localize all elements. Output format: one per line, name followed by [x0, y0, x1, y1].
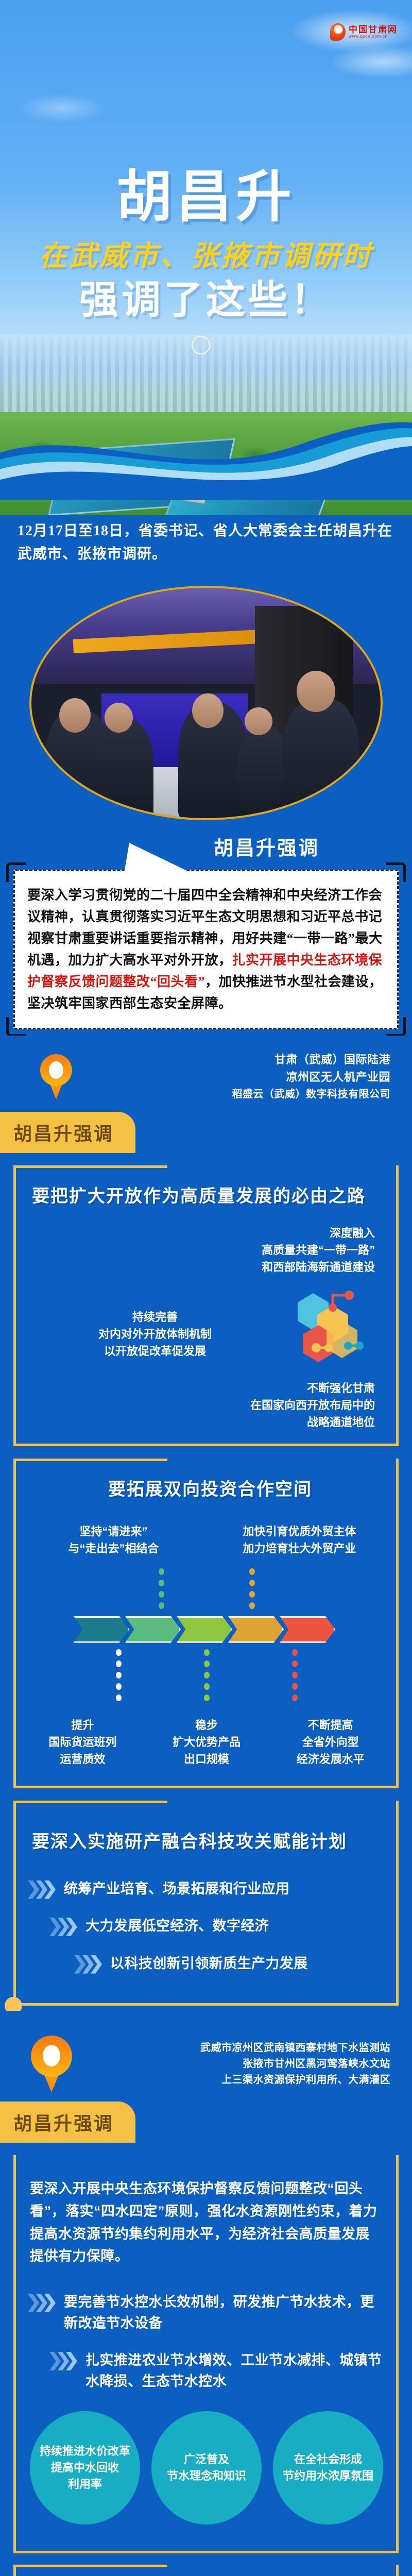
frame-edge-right: [396, 2155, 399, 2553]
water-circle-2-line2: 节水理念和知识: [167, 2468, 246, 2484]
water-circle-1-line2: 提高中水回收: [40, 2460, 130, 2476]
chevron-1: [74, 1616, 129, 1643]
water-bullet-1: 要完善节水控水长效机制，研发推广节水技术，更新改造节水设备: [25, 2283, 388, 2342]
chevron-process-strip: [25, 1616, 388, 1643]
invest-b3-line3: 经济发展水平: [272, 1751, 388, 1768]
section2-tab-row: 胡昌升强调: [0, 1108, 412, 1157]
corner-bracket-tl: [6, 862, 26, 882]
block-investment: 要拓展双向投资合作空间 坚持“请进来” 与“走出去”相结合 加快引育优质外贸主体…: [13, 1459, 399, 1788]
wave-divider: [0, 397, 412, 515]
network-hex-icon: [281, 1283, 384, 1386]
intro-section: 12月17日至18日，省委书记、省人大常委会主任胡昌升在武威市、张掖市调研。: [0, 515, 412, 580]
open-l-line2: 对内对外开放体制机制: [29, 1326, 281, 1343]
wave-svg: [0, 397, 412, 500]
site-logo: 中国甘肃网 www.gscn.com.cn: [330, 23, 398, 41]
section2-tab: 胡昌升强调: [0, 1112, 135, 1153]
frame-edge-left: [13, 1165, 16, 1446]
invest-b3-line2: 全省外向型: [272, 1734, 388, 1751]
double-chevron-icon: [28, 1880, 57, 1899]
water-circles: 持续推进水价改革 提高中水回收 利用率 广泛普及 节水理念和知识 在全社会形成 …: [25, 2400, 388, 2533]
open-item-left: 持续完善 对内对外开放体制机制 以开放促改革促发展: [29, 1309, 281, 1360]
tech-bullet-2-text: 大力发展低空经济、数字经济: [85, 1916, 269, 1937]
map-pin-icon: [31, 2036, 72, 2092]
tech-bullet-1-text: 统筹产业培育、场景拓展和行业应用: [64, 1878, 289, 1900]
photo-person-head: [192, 693, 224, 728]
corner-bracket-tr: [386, 862, 406, 882]
block-water-2: 要有序推进水资源监测感知夯基提能，完善取用水监测计量体系，强化取用水全环节监管，…: [13, 2565, 399, 2576]
water-circle-3-line2: 节约用水浓厚氛围: [283, 2468, 373, 2484]
open-l-line1: 持续完善: [29, 1309, 281, 1326]
water-circle-1-line1: 持续推进水价改革: [40, 2443, 130, 2460]
location-1-labels: 甘肃（武威）国际陆港 凉州区无人机产业园 稻盛云（武威）数字科技有限公司: [83, 1051, 399, 1102]
invest-bottom-3: 不断提高 全省外向型 经济发展水平: [272, 1717, 388, 1768]
water-bullet-2: 扎实推进农业节水增效、工业节水减排、城镇节水降损、生态节水控水: [25, 2342, 388, 2400]
water-circle-3: 在全社会形成 节约用水浓厚氛围: [273, 2411, 383, 2524]
section1: 胡昌升强调 要深入学习贯彻党的二十届四中全会精神和中央经济工作会议精神，认真贯彻…: [0, 827, 412, 1030]
photo-person-head: [297, 671, 335, 712]
frame-edge-bottom: [13, 2003, 399, 2006]
open-rb-line2: 在国家向西开放布局中的: [29, 1397, 375, 1414]
invest-tr-line1: 加快引育优质外贸主体: [211, 1523, 388, 1540]
location-1: 甘肃（武威）国际陆港 凉州区无人机产业园 稻盛云（武威）数字科技有限公司: [0, 1036, 412, 1107]
frame-edge-bottom: [13, 2551, 399, 2553]
frame-edge-left: [13, 2155, 16, 2553]
frame-edge-right: [396, 1459, 399, 1788]
invest-b2-line2: 扩大优势产品: [149, 1734, 265, 1751]
location-2-labels: 武威市凉州区武南镇西寨村地下水监测站 张掖市甘州区黑河莺落峡水文站 上三渠水资源…: [83, 2040, 399, 2088]
block-water: 要深入开展中央生态环境保护督察反馈问题整改“回头看”，落实“四水四定”原则，强化…: [13, 2155, 399, 2553]
ferris-wheel-icon: [192, 336, 210, 354]
photo-person-head: [105, 703, 132, 733]
site-logo-url: www.gscn.com.cn: [349, 34, 398, 39]
invest-b1-line1: 提升: [25, 1717, 141, 1734]
chevron-2: [125, 1616, 181, 1643]
water-circle-2: 广泛普及 节水理念和知识: [151, 2411, 262, 2524]
location-line: 凉州区无人机产业园: [83, 1069, 390, 1086]
quote-card: 要深入学习贯彻党的二十届四中全会精神和中央经济工作会议精神，认真贯彻落实习近平生…: [13, 870, 399, 1030]
open-rt-line3: 和西部陆海新通道建设: [29, 1259, 375, 1276]
water-circle-3-line1: 在全社会形成: [283, 2451, 373, 2468]
block-tech-title: 要深入实施研产融合科技攻关赋能计划: [25, 1814, 388, 1855]
water-bullet-1-text: 要完善节水控水长效机制，研发推广节水技术，更新改造节水设备: [64, 2292, 385, 2333]
tech-bullet-1: 统筹产业培育、场景拓展和行业应用: [25, 1870, 388, 1908]
callout-pointer-icon: [124, 843, 191, 873]
tech-bullet-3: 以科技创新引领新质生产力发展: [25, 1945, 388, 1982]
chevron-5: [280, 1616, 335, 1643]
section3-tab-row: 胡昌升强调: [0, 2097, 412, 2147]
section3-tab: 胡昌升强调: [0, 2102, 135, 2143]
block-opening-up: 要把扩大开放作为高质量发展的必由之路 深度融入 高质量共建“一带一路” 和西部陆…: [13, 1165, 399, 1446]
double-chevron-icon: [28, 2294, 57, 2312]
pin-hole: [49, 1061, 63, 1079]
open-rt-line1: 深度融入: [29, 1225, 375, 1242]
corner-bracket-bl: [6, 1017, 26, 1037]
frame-edge-left: [13, 1459, 16, 1788]
frame-edge-right: [396, 1165, 399, 1446]
location-2: 武威市凉州区武南镇西寨村地下水监测站 张掖市甘州区黑河莺落峡水文站 上三渠水资源…: [0, 2011, 412, 2097]
photo-content: [31, 588, 381, 818]
map-pin-icon: [40, 1054, 72, 1099]
open-rt-line2: 高质量共建“一带一路”: [29, 1242, 375, 1259]
frame-edge-bottom: [13, 1444, 399, 1446]
invest-tr-line2: 加力培育壮大外贸产业: [211, 1540, 388, 1557]
frame-edge-right: [396, 2565, 399, 2576]
water-circle-1-line3: 利用率: [40, 2476, 130, 2493]
invest-tl-line1: 坚持“请进来”: [25, 1523, 202, 1540]
frame-edge-right: [396, 1801, 399, 2006]
water-bullet-2-text: 扎实推进农业节水增效、工业节水减排、城镇节水降损、生态节水控水: [85, 2350, 385, 2392]
delegation-photo: [29, 586, 383, 820]
network-hex-svg: [281, 1283, 384, 1386]
invest-b3-line1: 不断提高: [272, 1717, 388, 1734]
photo-person: [283, 698, 359, 818]
location-line: 甘肃（武威）国际陆港: [83, 1051, 390, 1069]
invest-b2-line3: 出口规模: [149, 1751, 265, 1768]
connector-dots-orange: [249, 1568, 255, 1609]
connector-dots-red: [292, 1649, 298, 1701]
photo-person: [237, 726, 290, 818]
location-line: 张掖市甘州区黑河莺落峡水文站: [83, 2056, 390, 2072]
section1-heading: 胡昌升强调: [214, 838, 319, 859]
intro-paragraph: 12月17日至18日，省委书记、省人大常委会主任胡昌升在武威市、张掖市调研。: [0, 515, 412, 580]
location-line: 武威市凉州区武南镇西寨村地下水监测站: [83, 2040, 390, 2056]
frame-edge-left: [13, 1801, 16, 2006]
water-paragraph: 要深入开展中央生态环境保护督察反馈问题整改“回头看”，落实“四水四定”原则，强化…: [25, 2176, 388, 2283]
photo-person: [94, 719, 153, 818]
invest-tl-line2: 与“走出去”相结合: [25, 1540, 202, 1557]
hero-banner: 中国甘肃网 www.gscn.com.cn 胡昌升 在武威市、张掖市调研时 强调…: [0, 0, 412, 515]
gansu-flame-icon: [330, 23, 346, 41]
photo-person-head: [245, 707, 272, 735]
location-line: 稻盛云（武威）数字科技有限公司: [83, 1087, 390, 1103]
invest-b1-line2: 国际货运班列: [25, 1734, 141, 1751]
block-tech: 要深入实施研产融合科技攻关赋能计划 统筹产业培育、场景拓展和行业应用 大力发展低…: [13, 1801, 399, 2006]
block-investment-title: 要拓展双向投资合作空间: [25, 1472, 388, 1502]
connector-dots-lightgreen: [204, 1649, 210, 1701]
tech-bullet-2: 大力发展低空经济、数字经济: [25, 1907, 388, 1945]
pin-hole: [43, 2045, 60, 2066]
invest-top-left: 坚持“请进来” 与“走出去”相结合: [25, 1523, 202, 1557]
page-title: 胡昌升: [0, 152, 412, 232]
frame-edge-top: [13, 1459, 167, 1461]
delegation-photo-section: [0, 580, 412, 827]
invest-bottom-2: 稳步 扩大优势产品 出口规模: [149, 1717, 265, 1768]
open-l-line3: 以开放促改革促发展: [29, 1343, 281, 1360]
invest-b1-line3: 运营质效: [25, 1751, 141, 1768]
invest-top-right: 加快引育优质外贸主体 加力培育壮大外贸产业: [211, 1523, 388, 1557]
connector-dots-green: [159, 1568, 164, 1609]
double-chevron-icon: [74, 1955, 103, 1974]
block-opening-title: 要把扩大开放作为高质量发展的必由之路: [25, 1179, 388, 1209]
quote-body: 要深入学习贯彻党的二十届四中全会精神和中央经济工作会议精神，认真贯彻落实习近平生…: [13, 870, 399, 1030]
double-chevron-icon: [49, 2352, 78, 2370]
corner-bracket-br: [386, 1017, 406, 1037]
frame-edge-bottom: [13, 1786, 399, 1788]
tech-bullet-3-text: 以科技创新引领新质生产力发展: [110, 1953, 308, 1974]
double-chevron-icon: [49, 1918, 78, 1936]
open-rb-line3: 战略通道地位: [29, 1414, 375, 1431]
hero-subtitle-2: 强调了这些！: [0, 268, 412, 325]
water-circle-1: 持续推进水价改革 提高中水回收 利用率: [30, 2411, 140, 2524]
chevron-4: [228, 1616, 284, 1643]
chevron-3: [177, 1616, 232, 1643]
open-item-right-bottom: 不断强化甘肃 在国家向西开放布局中的 战略通道地位: [29, 1380, 384, 1431]
invest-b2-line1: 稳步: [149, 1717, 265, 1734]
frame-edge-top: [13, 1801, 167, 1803]
connector-dots-teal: [116, 1649, 122, 1701]
infographic-page: 中国甘肃网 www.gscn.com.cn 胡昌升 在武威市、张掖市调研时 强调…: [0, 0, 412, 2576]
invest-bottom-1: 提升 国际货运班列 运营质效: [25, 1717, 141, 1768]
location-line: 上三渠水资源保护利用所、大满灌区: [83, 2072, 390, 2088]
frame-edge-top: [13, 2565, 167, 2567]
water-circle-2-line1: 广泛普及: [167, 2451, 246, 2468]
site-logo-name: 中国甘肃网: [349, 25, 398, 35]
frame-edge-top: [13, 1165, 167, 1168]
open-item-right-top: 深度融入 高质量共建“一带一路” 和西部陆海新通道建设: [29, 1225, 384, 1276]
